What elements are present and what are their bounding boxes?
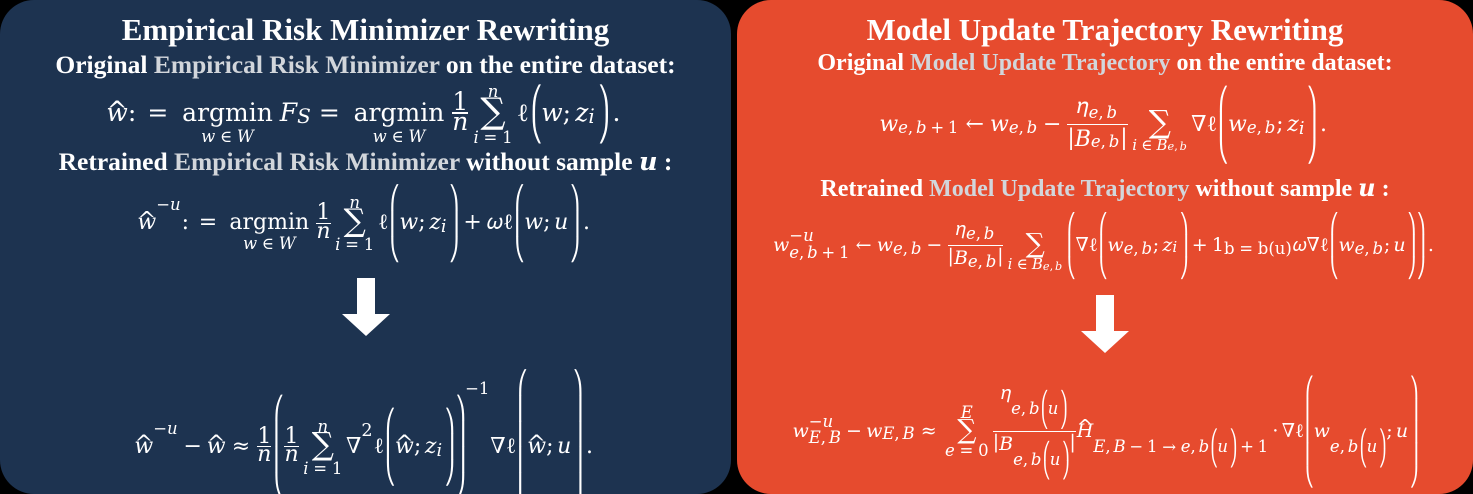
formula-result-right: w E,B −u − wE,B ≈ ∑ e=0 E ηe,b(u) |Be,b(…: [743, 375, 1467, 487]
panel-model-update-trajectory: Model Update Trajectory Rewriting Origin…: [737, 0, 1473, 494]
heading-retrained-symbol: u: [1358, 173, 1375, 202]
down-arrow-icon: [335, 276, 397, 338]
heading-retrained-suffix: without sample: [1189, 176, 1358, 202]
heading-retrained-prefix: Retrained: [820, 176, 929, 202]
heading-original-left: Original Empirical Risk Minimizer on the…: [8, 50, 723, 80]
panel-title-right: Model Update Trajectory Rewriting: [743, 10, 1467, 50]
heading-retrained-colon: :: [658, 147, 673, 176]
formula-retrained-left: w^ −u := argmin w∈W 1n ∑ i=1 n ℓ: [8, 183, 723, 262]
heading-original-highlight: Model Update Trajectory: [910, 50, 1170, 76]
heading-retrained-highlight: Model Update Trajectory: [929, 176, 1189, 202]
heading-original-prefix: Original: [817, 50, 910, 76]
heading-original-prefix: Original: [55, 50, 153, 79]
formula-result-left: w^ −u − w^ ≈ 1n ( 1n ∑: [8, 368, 723, 494]
down-arrow-right-wrap: [743, 293, 1467, 355]
formula-original-right: we,b+1 ← we,b − ηe,b |Be,b| ∑ i∈Be,b ∇ℓ …: [743, 85, 1467, 164]
comparison-figure: Empirical Risk Minimizer Rewriting Origi…: [0, 0, 1473, 494]
heading-retrained-right: Retrained Model Update Trajectory withou…: [743, 173, 1467, 203]
heading-original-right: Original Model Update Trajectory on the …: [743, 50, 1467, 77]
down-arrow-left-wrap: [8, 276, 723, 338]
heading-retrained-left: Retrained Empirical Risk Minimizer witho…: [8, 147, 723, 177]
heading-original-highlight: Empirical Risk Minimizer: [154, 50, 440, 79]
heading-retrained-colon: :: [1376, 176, 1390, 202]
formula-original-left: w^ := argmin w∈W FS = argmin w∈W 1n ∑: [8, 84, 723, 143]
heading-retrained-symbol: u: [639, 147, 658, 177]
heading-original-suffix: on the entire dataset:: [1170, 50, 1392, 76]
down-arrow-icon: [1074, 293, 1136, 355]
heading-retrained-highlight: Empirical Risk Minimizer: [174, 147, 460, 176]
heading-retrained-suffix: without sample: [460, 147, 639, 176]
panel-empirical-risk-minimizer: Empirical Risk Minimizer Rewriting Origi…: [0, 0, 731, 494]
heading-retrained-prefix: Retrained: [59, 147, 174, 176]
panel-title-left: Empirical Risk Minimizer Rewriting: [8, 10, 723, 50]
heading-original-suffix: on the entire dataset:: [440, 50, 676, 79]
formula-retrained-right: w e,b+1 −u ← we,b − ηe,b |Be,b| ∑ i∈Be,b: [743, 211, 1467, 279]
